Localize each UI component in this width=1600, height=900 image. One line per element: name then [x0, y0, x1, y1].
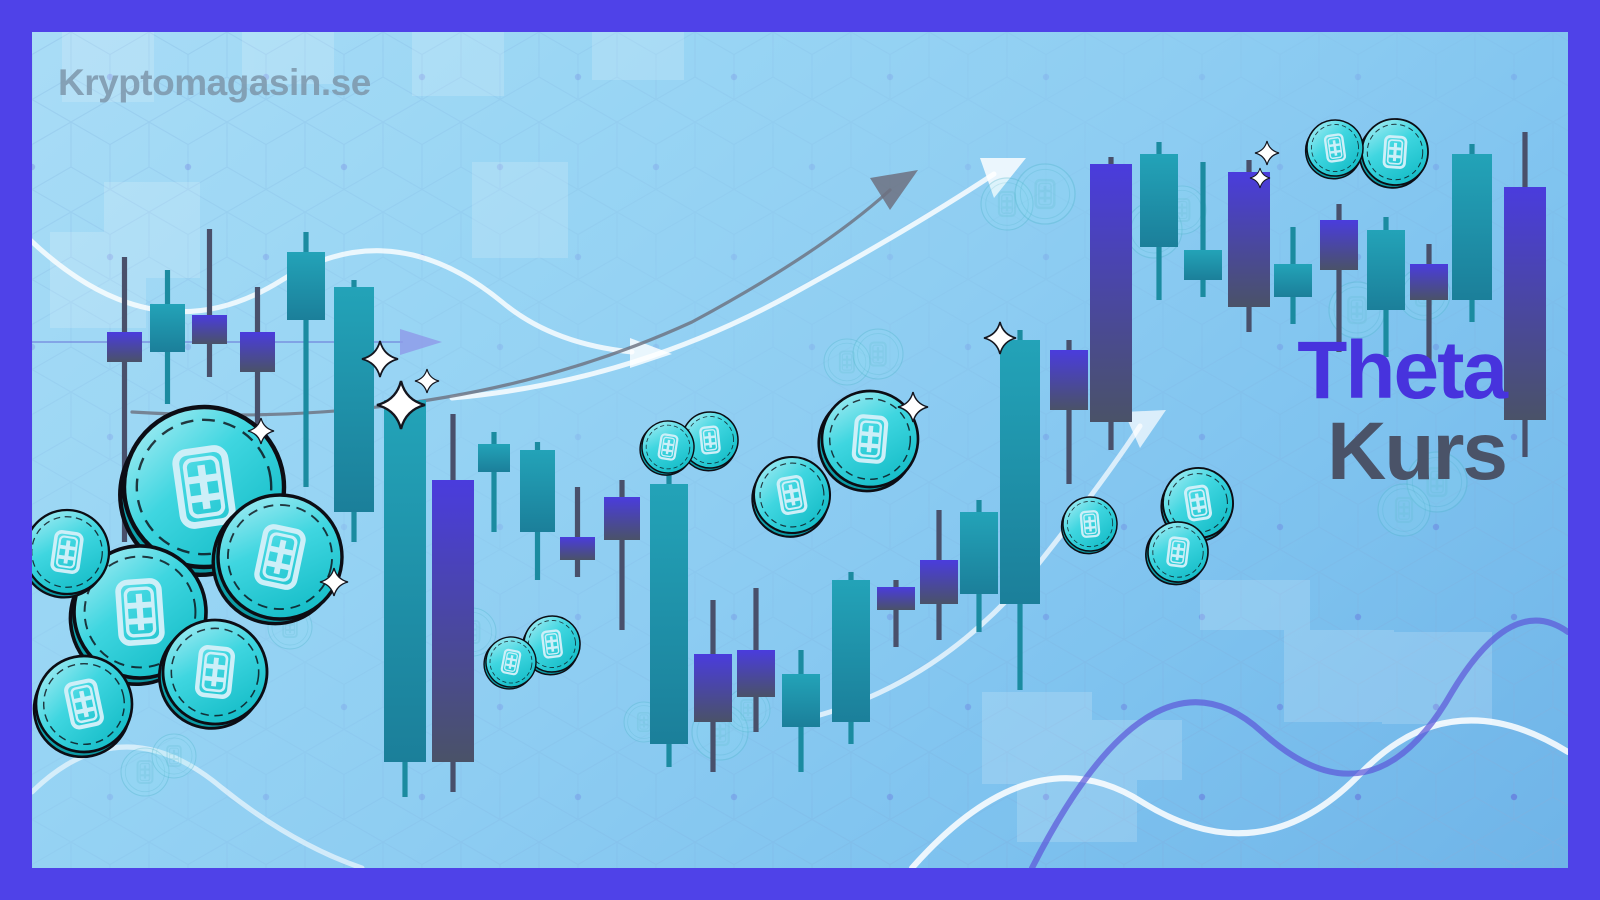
site-watermark: Kryptomagasin.se	[58, 62, 371, 104]
sparkle-icon	[362, 341, 398, 377]
page-title: Theta Kurs	[1297, 332, 1506, 490]
sparkle-icon	[1255, 141, 1279, 165]
title-line-2: Kurs	[1297, 413, 1506, 490]
poster-canvas: Kryptomagasin.se Theta Kurs	[32, 32, 1568, 868]
sparkle-icon	[415, 369, 439, 393]
sparkle-icon	[377, 381, 425, 429]
sparkle-icon	[1250, 168, 1270, 188]
sparkle-icon	[898, 392, 928, 422]
sparkle-icon	[984, 322, 1016, 354]
poster-root: Kryptomagasin.se Theta Kurs	[0, 0, 1600, 900]
sparkle-icon	[320, 568, 348, 596]
sparkle-icon	[248, 418, 274, 444]
title-line-1: Theta	[1297, 332, 1506, 409]
